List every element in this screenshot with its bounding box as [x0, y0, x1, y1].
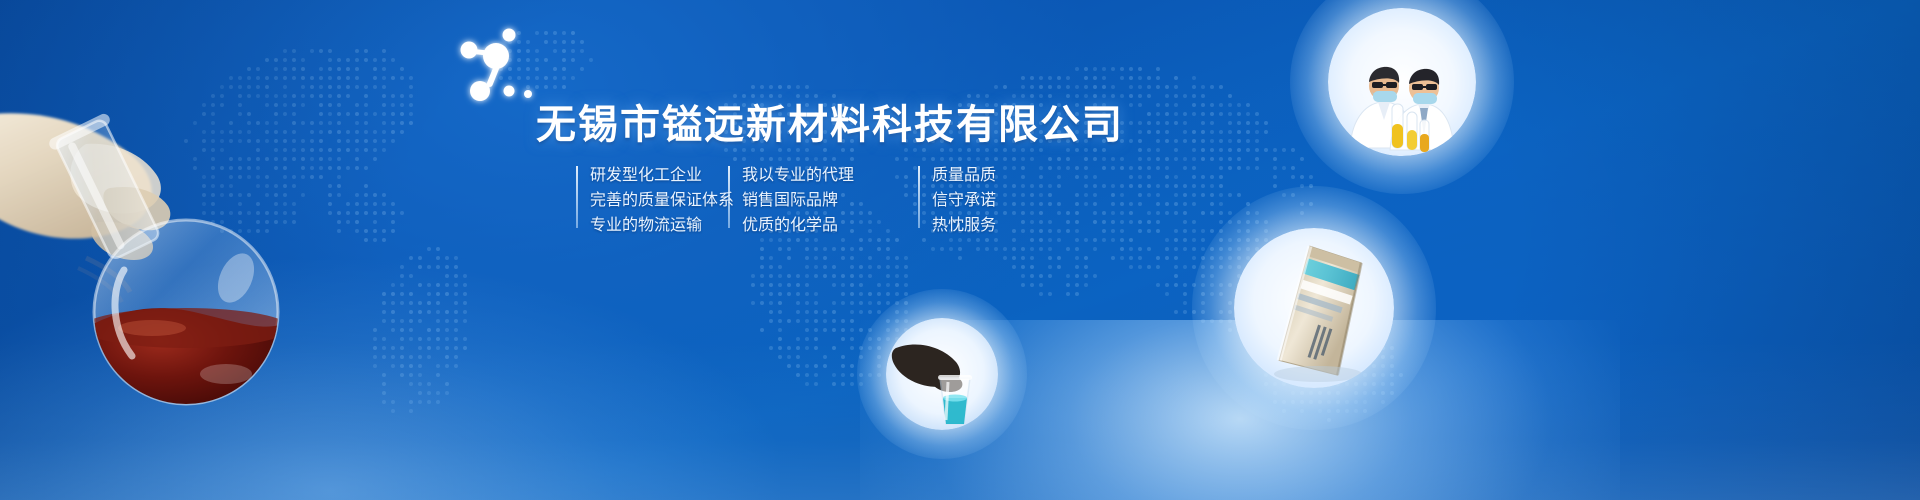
circle-image — [886, 318, 998, 430]
slogan-line: 销售国际品牌 — [742, 189, 918, 211]
slogan-columns: 研发型化工企业 完善的质量保证体系 专业的物流运输 我以专业的代理 销售国际品牌… — [576, 164, 1038, 239]
slogan-column-agency: 我以专业的代理 销售国际品牌 优质的化学品 — [728, 164, 918, 239]
gloved-hand-flask-photo — [0, 92, 370, 500]
slogan-line: 质量品质 — [932, 164, 1038, 186]
slogan-column-rnd: 研发型化工企业 完善的质量保证体系 专业的物流运输 — [576, 164, 728, 239]
slogan-column-quality: 质量品质 信守承诺 热忱服务 — [918, 164, 1038, 239]
slogan-line: 热忱服务 — [932, 214, 1038, 236]
chemical-bag-circle-photo — [1234, 228, 1394, 388]
column-divider-bar — [728, 166, 730, 228]
page-title: 无锡市镒远新材料科技有限公司 — [536, 92, 1124, 150]
circle-image — [1328, 8, 1476, 156]
slogan-line: 完善的质量保证体系 — [590, 189, 728, 211]
slogan-line: 优质的化学品 — [742, 214, 918, 236]
slogan-line: 信守承诺 — [932, 189, 1038, 211]
beaker-circle-photo — [886, 318, 998, 430]
company-banner: 无锡市镒远新材料科技有限公司 研发型化工企业 完善的质量保证体系 专业的物流运输… — [0, 0, 1920, 500]
circle-image — [1234, 228, 1394, 388]
slogan-line: 专业的物流运输 — [590, 214, 728, 236]
molecule-icon — [452, 22, 542, 122]
scientists-circle-photo — [1328, 8, 1476, 156]
slogan-line: 我以专业的代理 — [742, 164, 918, 186]
slogan-line: 研发型化工企业 — [590, 164, 728, 186]
column-divider-bar — [918, 166, 920, 228]
column-divider-bar — [576, 166, 578, 228]
